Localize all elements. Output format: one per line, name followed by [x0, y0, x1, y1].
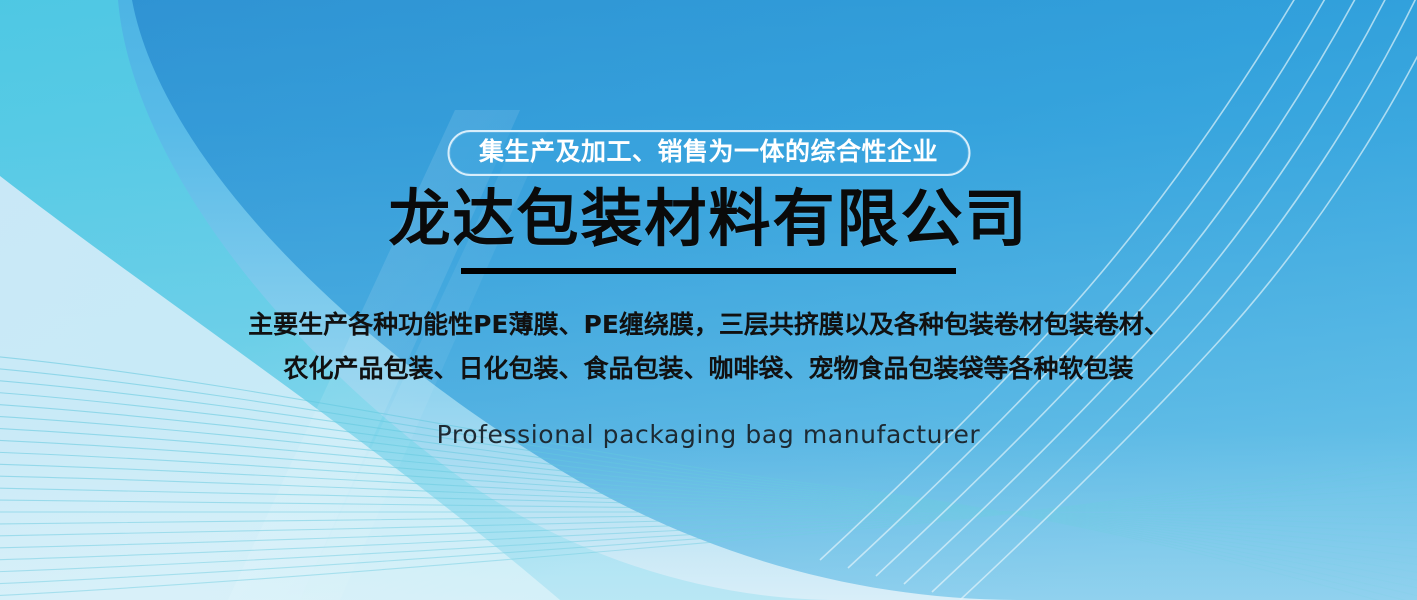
title-underline-rule [461, 268, 956, 274]
description-block: 主要生产各种功能性PE薄膜、PE缠绕膜，三层共挤膜以及各种包装卷材包装卷材、 农… [0, 303, 1417, 391]
tagline-badge: 集生产及加工、销售为一体的综合性企业 [447, 130, 970, 176]
promo-banner: 集生产及加工、销售为一体的综合性企业 龙达包装材料有限公司 主要生产各种功能性P… [0, 0, 1417, 600]
english-subtitle: Professional packaging bag manufacturer [0, 420, 1417, 449]
description-line-1: 主要生产各种功能性PE薄膜、PE缠绕膜，三层共挤膜以及各种包装卷材包装卷材、 [0, 303, 1417, 347]
company-name-title: 龙达包装材料有限公司 [388, 186, 1028, 252]
title-block: 龙达包装材料有限公司 [0, 186, 1417, 274]
description-line-2: 农化产品包装、日化包装、食品包装、咖啡袋、宠物食品包装袋等各种软包装 [0, 347, 1417, 391]
